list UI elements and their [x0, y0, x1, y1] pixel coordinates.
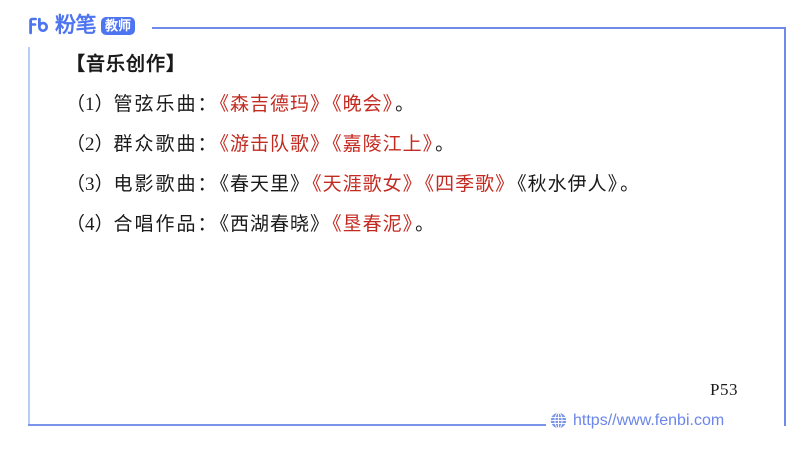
list-item: （4）合唱作品：《西湖春晓》《垦春泥》。 — [66, 205, 766, 245]
brand-badge: 教师 — [101, 17, 135, 35]
item-number: （4） — [66, 214, 114, 235]
item-colon: ： — [198, 134, 217, 155]
item-period: 。 — [415, 214, 435, 235]
item-colon: ： — [198, 94, 217, 115]
work-title: 《西湖春晓》 — [220, 214, 331, 235]
frame-right-rule — [784, 28, 786, 426]
work-title: 《四季歌》 — [425, 174, 516, 195]
work-title: 《天涯歌女》 — [312, 174, 423, 195]
item-label: 管弦乐曲 — [114, 94, 198, 115]
work-title: 《垦春泥》 — [332, 214, 413, 235]
item-label: 群众歌曲 — [114, 134, 198, 155]
slide-canvas: 粉笔 教师 【音乐创作】 （1）管弦乐曲：《森吉德玛》《晚会》。 （2）群众歌曲… — [0, 0, 800, 450]
work-title: 《春天里》 — [220, 174, 311, 195]
work-title: 《游击队歌》 — [220, 134, 331, 155]
item-number: （2） — [66, 134, 114, 155]
item-number: （1） — [66, 94, 114, 115]
slide-body: 【音乐创作】 （1）管弦乐曲：《森吉德玛》《晚会》。 （2）群众歌曲：《游击队歌… — [66, 50, 766, 245]
item-period: 。 — [620, 174, 640, 195]
website-url: https//www.fenbi.com — [573, 412, 724, 429]
list-item: （2）群众歌曲：《游击队歌》《嘉陵江上》。 — [66, 125, 766, 165]
work-title: 《晚会》 — [332, 94, 393, 115]
item-colon: ： — [198, 214, 217, 235]
item-period: 。 — [435, 134, 455, 155]
brand-name: 粉笔 — [55, 14, 96, 38]
item-label: 电影歌曲 — [114, 174, 198, 195]
brand-logo: 粉笔 教师 — [26, 13, 138, 39]
frame-top-rule — [152, 27, 786, 29]
list-item: （1）管弦乐曲：《森吉德玛》《晚会》。 — [66, 85, 766, 125]
item-label: 合唱作品 — [114, 214, 198, 235]
globe-icon — [550, 412, 567, 429]
item-number: （3） — [66, 174, 114, 195]
website-footer: https//www.fenbi.com — [550, 412, 724, 429]
frame-bottom-rule — [28, 424, 546, 426]
fb-logo-icon — [26, 14, 50, 38]
item-period: 。 — [395, 94, 415, 115]
list-item: （3）电影歌曲：《春天里》《天涯歌女》《四季歌》《秋水伊人》。 — [66, 165, 766, 205]
item-colon: ： — [198, 174, 217, 195]
section-heading: 【音乐创作】 — [66, 50, 766, 80]
work-title: 《嘉陵江上》 — [332, 134, 433, 155]
frame-left-rule — [28, 47, 30, 425]
page-number: P53 — [710, 380, 738, 400]
work-title: 《森吉德玛》 — [220, 94, 331, 115]
work-title: 《秋水伊人》 — [517, 174, 618, 195]
